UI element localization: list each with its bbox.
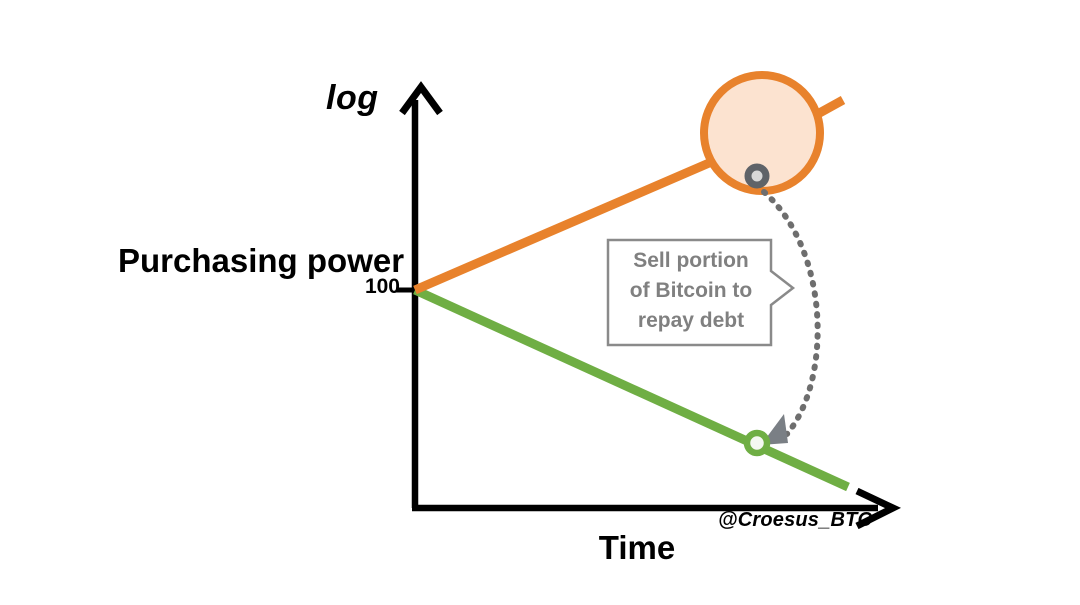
y-axis-scale-label: log [326, 79, 378, 117]
callout-text: Sell portion of Bitcoin to repay debt [613, 246, 769, 335]
y-tick-label-100: 100 [300, 275, 400, 299]
x-axis-title: Time [537, 530, 737, 567]
bitcoin-holding-marker [748, 167, 766, 185]
chart-figure [0, 0, 1080, 605]
debt-repayment-marker [747, 433, 767, 453]
chart-canvas: log Purchasing power 100 Time @Croesus_B… [0, 0, 1080, 605]
y-axis-arrowhead [402, 87, 440, 113]
author-watermark: @Croesus_BTC [718, 509, 872, 531]
